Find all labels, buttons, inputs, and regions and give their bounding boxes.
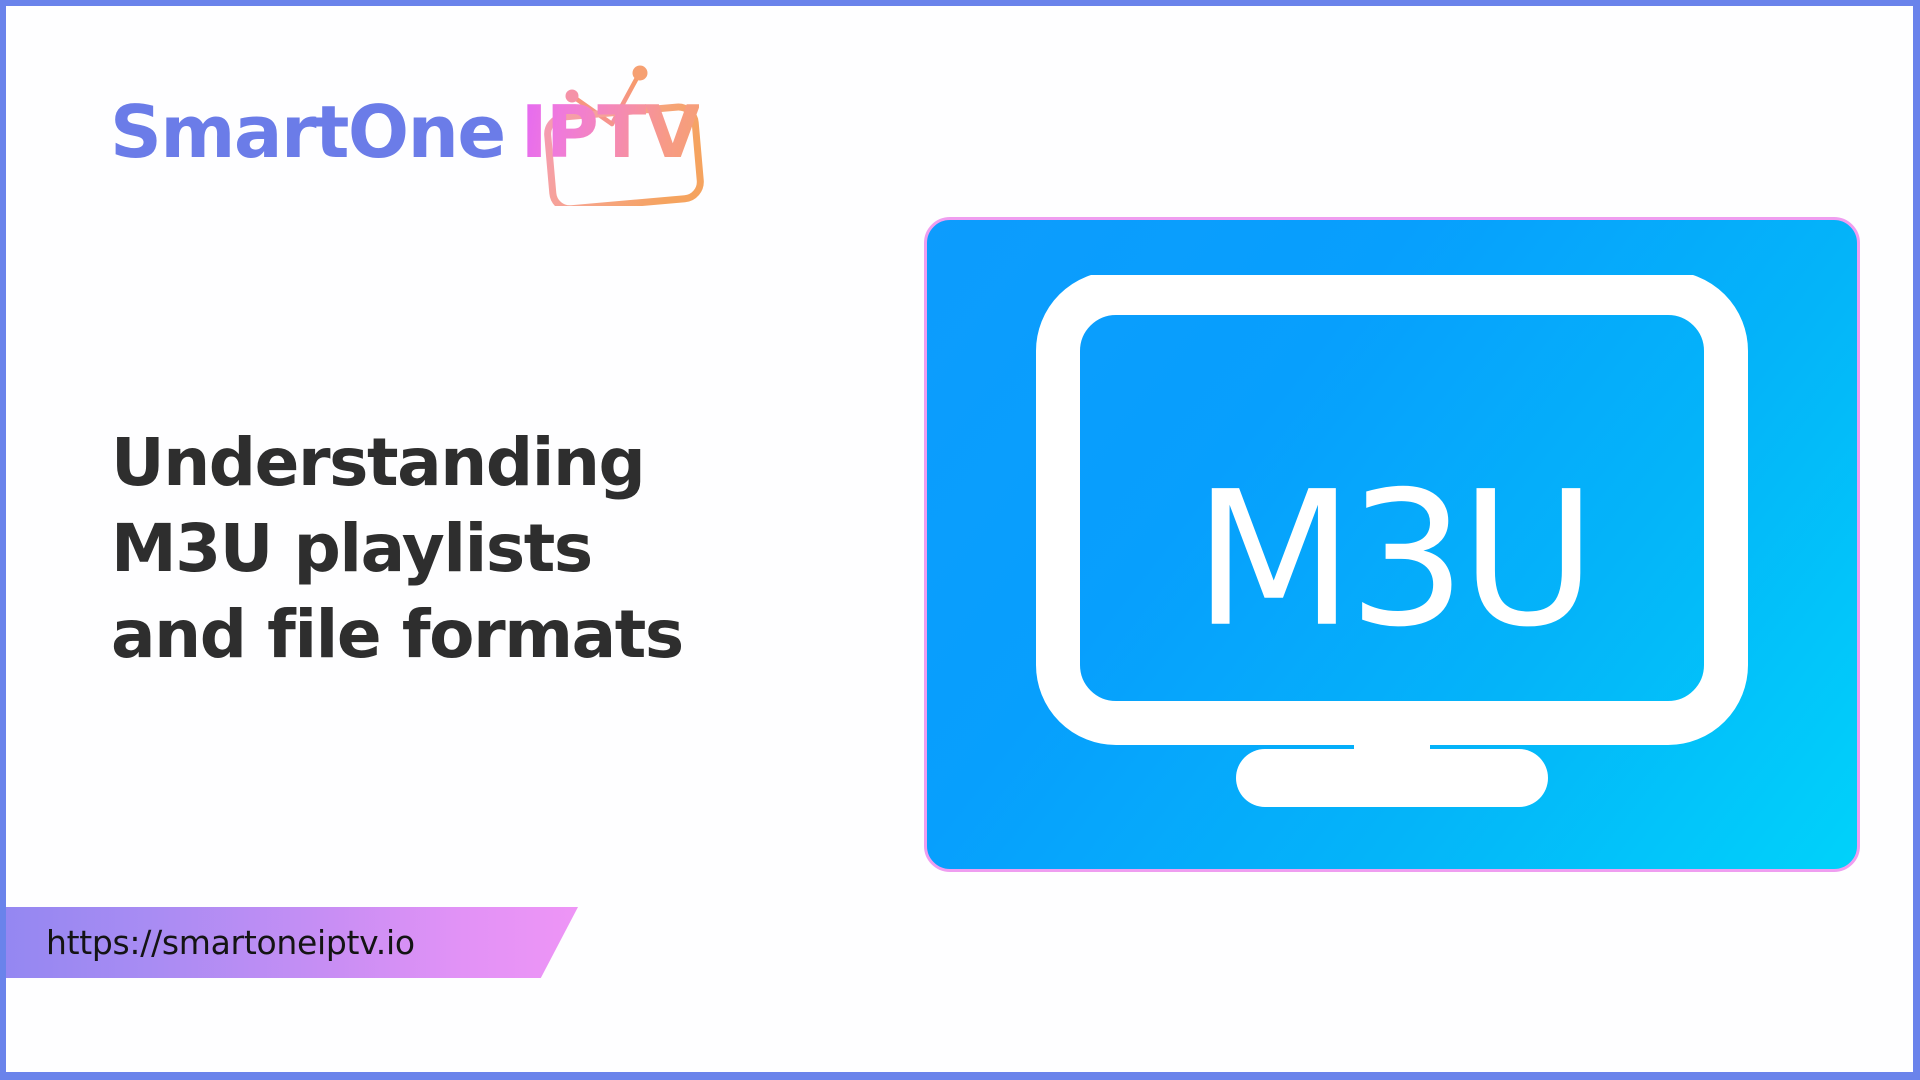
- poster-background: SmartOneIPTV Understanding M3U playlists…: [6, 6, 1913, 1072]
- m3u-label: M3U: [1194, 450, 1591, 667]
- brand-name-iptv: IPTV: [521, 90, 699, 174]
- headline-line-2: M3U playlists: [111, 506, 871, 592]
- m3u-illustration-card: M3U: [924, 217, 1860, 872]
- headline-line-3: and file formats: [111, 592, 871, 678]
- headline-line-1: Understanding: [111, 420, 871, 506]
- poster-canvas: SmartOneIPTV Understanding M3U playlists…: [0, 0, 1920, 1080]
- brand-logo[interactable]: SmartOneIPTV: [110, 58, 790, 208]
- brand-name-smartone: SmartOne: [110, 90, 505, 174]
- brand-wordmark: SmartOneIPTV: [110, 96, 699, 168]
- page-title: Understanding M3U playlists and file for…: [111, 420, 871, 677]
- website-url-banner[interactable]: https://smartoneiptv.io: [6, 907, 578, 978]
- website-url-text: https://smartoneiptv.io: [6, 923, 415, 962]
- desktop-monitor-icon: M3U: [1032, 275, 1752, 815]
